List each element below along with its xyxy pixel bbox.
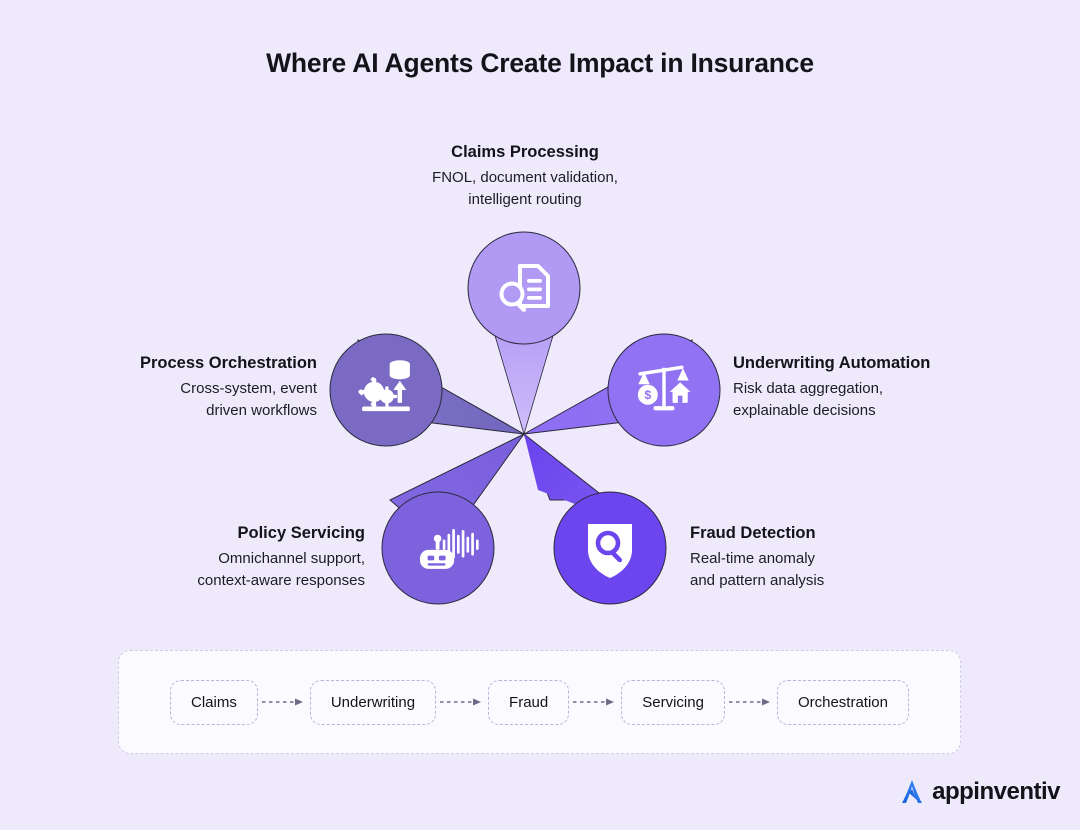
label-claims: Claims Processing FNOL, document validat… <box>330 141 720 210</box>
label-claims-heading: Claims Processing <box>330 141 720 164</box>
label-policy: Policy Servicing Omnichannel support, co… <box>100 522 365 591</box>
label-fraud-heading: Fraud Detection <box>690 522 990 545</box>
petal-policy[interactable] <box>382 434 524 604</box>
petal-orchestration[interactable] <box>330 334 524 446</box>
svg-text:$: $ <box>644 388 651 402</box>
label-fraud-sub-2: and pattern analysis <box>690 570 990 591</box>
logo-wordmark: appinventiv <box>932 778 1060 806</box>
label-policy-sub-2: context-aware responses <box>100 570 365 591</box>
dashed-arrow-right-icon-2 <box>436 696 488 708</box>
infographic-canvas: Where AI Agents Create Impact in Insuran… <box>0 0 1080 830</box>
process-flow-bar: Claims Underwriting Fraud Servicing <box>118 650 961 754</box>
petal-underwriting[interactable]: $ <box>524 334 720 446</box>
flow-chip-fraud[interactable]: Fraud <box>488 680 569 725</box>
label-underwriting-sub-2: explainable decisions <box>733 400 1033 421</box>
label-claims-sub-1: FNOL, document validation, <box>330 167 720 188</box>
dashed-arrow-right-icon-4 <box>725 696 777 708</box>
label-orchestration-sub-2: driven workflows <box>55 400 317 421</box>
label-underwriting-sub-1: Risk data aggregation, <box>733 378 1033 399</box>
label-fraud-sub-1: Real-time anomaly <box>690 548 990 569</box>
label-underwriting-heading: Underwriting Automation <box>733 352 1033 375</box>
flow-chip-orchestration[interactable]: Orchestration <box>777 680 909 725</box>
dashed-arrow-right-icon-1 <box>258 696 310 708</box>
flow-chip-underwriting[interactable]: Underwriting <box>310 680 436 725</box>
page-title: Where AI Agents Create Impact in Insuran… <box>0 48 1080 79</box>
label-orchestration: Process Orchestration Cross-system, even… <box>55 352 317 421</box>
label-orchestration-sub-1: Cross-system, event <box>55 378 317 399</box>
appinventiv-logo[interactable]: appinventiv <box>896 776 1060 808</box>
flow-chip-servicing[interactable]: Servicing <box>621 680 725 725</box>
label-policy-sub-1: Omnichannel support, <box>100 548 365 569</box>
label-underwriting: Underwriting Automation Risk data aggreg… <box>733 352 1033 421</box>
label-claims-sub-2: intelligent routing <box>330 189 720 210</box>
appinventiv-a-mark-icon <box>896 776 928 808</box>
label-orchestration-heading: Process Orchestration <box>55 352 317 375</box>
dashed-arrow-right-icon-3 <box>569 696 621 708</box>
petal-claims[interactable] <box>468 232 580 434</box>
flow-chip-claims[interactable]: Claims <box>170 680 258 725</box>
label-policy-heading: Policy Servicing <box>100 522 365 545</box>
label-fraud: Fraud Detection Real-time anomaly and pa… <box>690 522 990 591</box>
petal-fraud[interactable] <box>524 434 666 604</box>
